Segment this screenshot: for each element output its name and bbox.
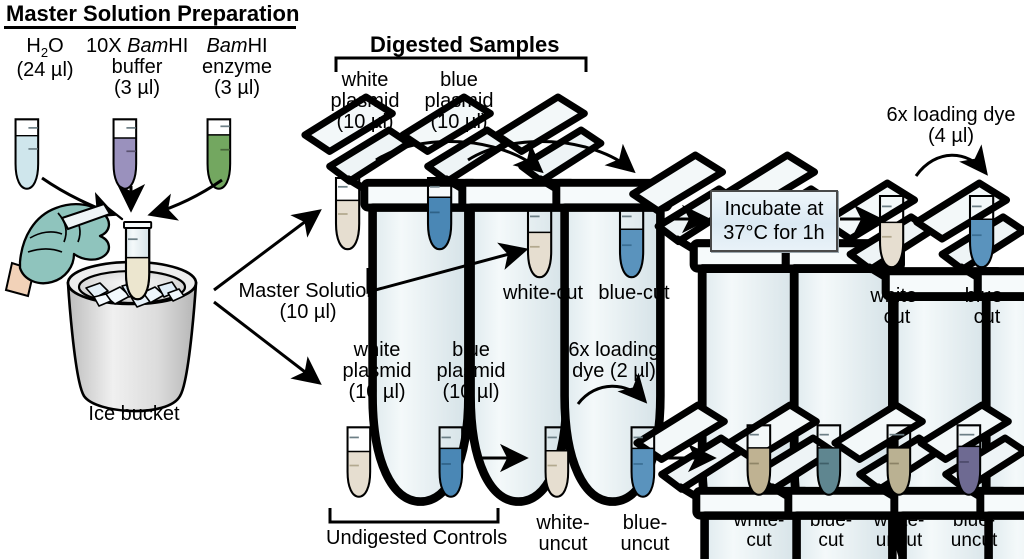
wp-l3: (10 µl) bbox=[336, 111, 393, 133]
bp-l2: plasmid bbox=[425, 90, 494, 112]
label-blue-cut-dye: blue- cut bbox=[946, 286, 1024, 328]
ms-line2: (10 µl) bbox=[279, 301, 336, 323]
label-white-plasmid-dig: white plasmid (10 µl) bbox=[318, 70, 412, 134]
bu-l2: uncut bbox=[621, 533, 670, 555]
buffer-name2: buffer bbox=[112, 56, 163, 78]
master-solution-label: Master Solution (10 µl) bbox=[226, 281, 390, 323]
label-blue-plasmid-un: blue plasmid (10 µl) bbox=[424, 340, 518, 404]
wpu-l3: (10 µl) bbox=[348, 381, 405, 403]
bp-l1: blue bbox=[440, 69, 478, 91]
wpu-l1: white bbox=[354, 339, 401, 361]
dye-bot-l2: dye (2 µl) bbox=[572, 360, 656, 382]
dye-label-bottom: 6x loading dye (2 µl) bbox=[546, 340, 682, 382]
bcd-l1: blue- bbox=[965, 285, 1009, 307]
fbc-l2: cut bbox=[818, 530, 843, 551]
bpu-l1: blue bbox=[452, 339, 490, 361]
label-final-blue-uncut: blue- uncut bbox=[932, 511, 1016, 551]
bp-l3: (10 µl) bbox=[430, 111, 487, 133]
ice-bucket-label: Ice bucket bbox=[72, 404, 196, 425]
reagent-label-water: H2O (24 µl) bbox=[2, 36, 88, 81]
undigested-bracket bbox=[330, 508, 498, 522]
fbu-l1: blue- bbox=[953, 510, 995, 531]
title-underline bbox=[4, 26, 296, 29]
gloved-hand bbox=[6, 204, 122, 296]
label-white-cut-1: white-cut bbox=[494, 283, 592, 304]
bcd-l2: cut bbox=[974, 306, 1001, 328]
label-final-white-cut: white- cut bbox=[718, 511, 800, 551]
dye-bot-l1: 6x loading bbox=[568, 339, 659, 361]
enzyme-volume: (3 µl) bbox=[214, 77, 260, 99]
fbc-l1: blue- bbox=[810, 510, 852, 531]
incubate-l1: Incubate at bbox=[725, 198, 824, 220]
digested-samples-heading: Digested Samples bbox=[370, 33, 554, 56]
fwc-l1: white- bbox=[734, 510, 785, 531]
undigested-controls-label: Undigested Controls bbox=[326, 528, 504, 549]
label-white-cut-dye: white- cut bbox=[854, 286, 940, 328]
label-blue-cut-1: blue-cut bbox=[592, 283, 676, 304]
bpu-l2: plasmid bbox=[437, 360, 506, 382]
dye-top-l1: 6x loading dye bbox=[887, 104, 1016, 126]
incubate-step-box: Incubate at 37°C for 1h bbox=[710, 190, 838, 252]
water-volume: (24 µl) bbox=[16, 59, 73, 81]
wp-l1: white bbox=[342, 69, 389, 91]
fwu-l2: uncut bbox=[876, 530, 922, 551]
dye-top-l2: (4 µl) bbox=[928, 125, 974, 147]
bpu-l3: (10 µl) bbox=[442, 381, 499, 403]
wu-l2: uncut bbox=[539, 533, 588, 555]
label-blue-plasmid-dig: blue plasmid (10 µl) bbox=[412, 70, 506, 134]
tube-blue-cut-dye bbox=[970, 173, 1024, 559]
ice-bucket bbox=[6, 204, 196, 411]
fwc-l2: cut bbox=[746, 530, 771, 551]
label-white-plasmid-un: white plasmid (10 µl) bbox=[330, 340, 424, 404]
wcd-l2: cut bbox=[884, 306, 911, 328]
bu-l1: blue- bbox=[623, 512, 667, 534]
reagent-label-buffer: 10X BamHI buffer (3 µl) bbox=[86, 36, 188, 100]
reagent-label-enzyme: BamHI enzyme (3 µl) bbox=[186, 36, 288, 100]
water-formula: H2O bbox=[26, 35, 63, 57]
fwu-l1: white- bbox=[874, 510, 925, 531]
wp-l2: plasmid bbox=[331, 90, 400, 112]
wcd-l1: white- bbox=[870, 285, 923, 307]
label-blue-uncut: blue- uncut bbox=[604, 513, 686, 555]
wu-l1: white- bbox=[536, 512, 589, 534]
diagram-canvas: Master Solution Preparation bbox=[0, 0, 1024, 559]
buffer-volume: (3 µl) bbox=[114, 77, 160, 99]
buffer-name: 10X BamHI bbox=[86, 35, 188, 57]
dye-label-top: 6x loading dye (4 µl) bbox=[878, 105, 1024, 147]
label-final-white-uncut: white- uncut bbox=[856, 511, 942, 551]
enzyme-name: BamHI bbox=[206, 35, 267, 57]
incubate-l2: 37°C for 1h bbox=[723, 222, 824, 244]
tube-white-cut-dye bbox=[880, 173, 1024, 559]
incubate-text: Incubate at 37°C for 1h bbox=[723, 197, 824, 246]
label-white-uncut: white- uncut bbox=[520, 513, 606, 555]
fbu-l2: uncut bbox=[951, 530, 997, 551]
page-title: Master Solution Preparation bbox=[6, 2, 299, 25]
wpu-l2: plasmid bbox=[343, 360, 412, 382]
enzyme-name2: enzyme bbox=[202, 56, 272, 78]
ms-line1: Master Solution bbox=[239, 280, 378, 302]
